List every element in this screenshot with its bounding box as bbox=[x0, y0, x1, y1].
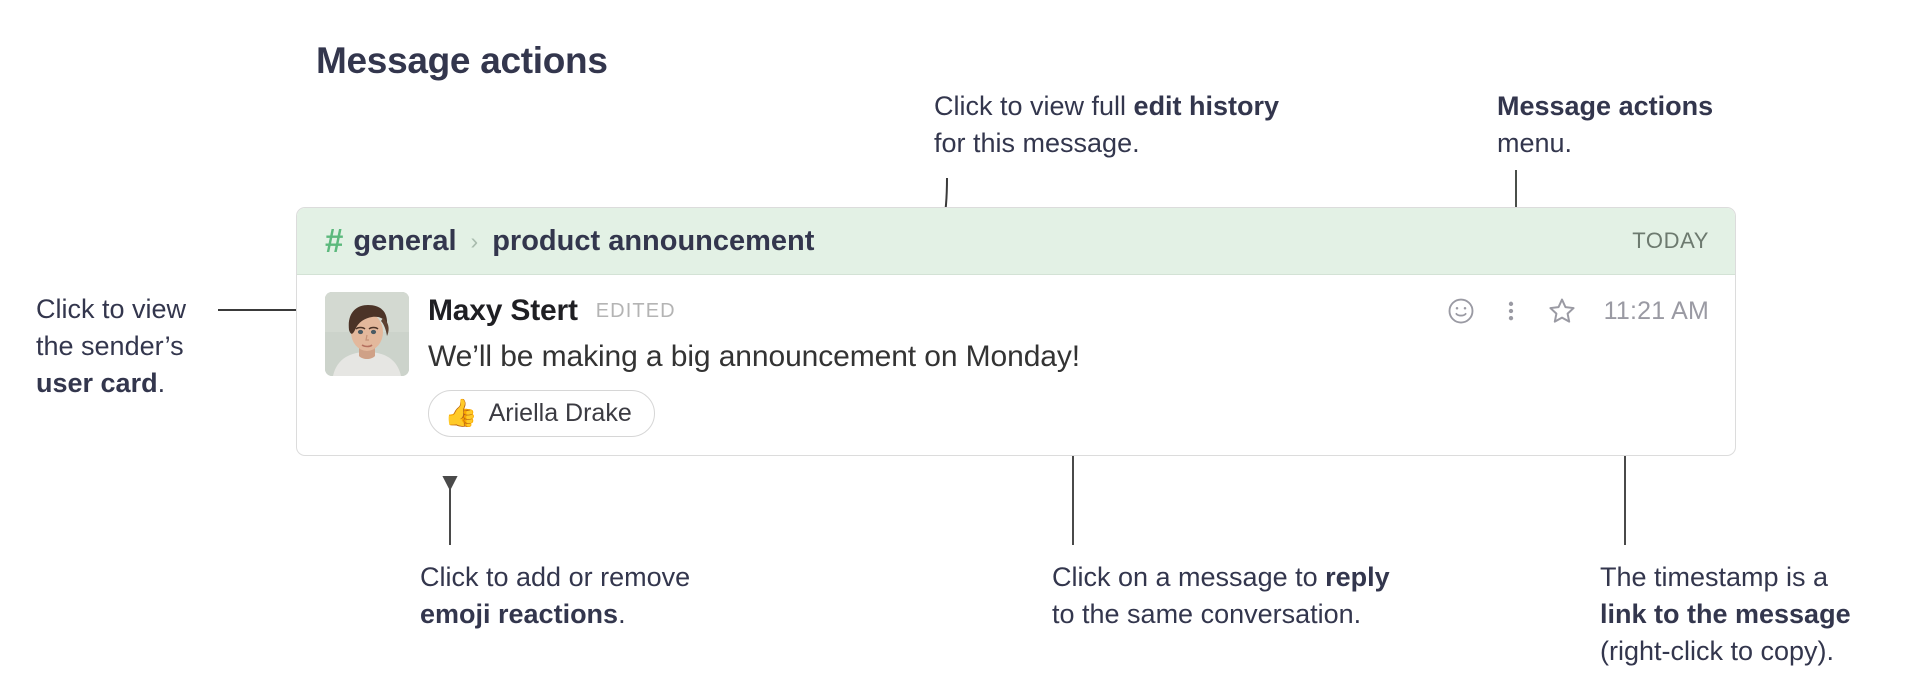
annotation-text: Click to view full bbox=[934, 91, 1134, 121]
annotation-text: to the same conversation. bbox=[1052, 599, 1361, 629]
annotation-line: Click to view full edit history bbox=[934, 88, 1279, 125]
message-row: Maxy Stert EDITED bbox=[297, 275, 1735, 437]
chevron-right-icon: › bbox=[471, 228, 479, 255]
annotation-line: emoji reactions. bbox=[420, 596, 690, 633]
recipient-date[interactable]: TODAY bbox=[1632, 228, 1709, 254]
annotation-text: the sender’s bbox=[36, 331, 184, 361]
annotation-text: . bbox=[158, 368, 166, 398]
annotation-line: Click to view bbox=[36, 291, 186, 328]
annotation-line: link to the message bbox=[1600, 596, 1851, 633]
hash-icon: # bbox=[325, 224, 343, 257]
stream-name[interactable]: general bbox=[353, 225, 456, 258]
reaction-label: Ariella Drake bbox=[489, 399, 632, 428]
annotation-line: The timestamp is a bbox=[1600, 559, 1851, 596]
illustration-stage: Message actions Click to view full edit … bbox=[0, 0, 1924, 696]
annotation-text: Click to add or remove bbox=[420, 562, 690, 592]
topic-name[interactable]: product announcement bbox=[492, 225, 814, 258]
avatar[interactable] bbox=[325, 292, 409, 376]
annotation-text: (right-click to copy). bbox=[1600, 636, 1834, 666]
annotation-text: Click to view bbox=[36, 294, 186, 324]
annotation-reply: Click on a message to reply to the same … bbox=[1052, 559, 1390, 633]
annotation-emphasis: emoji reactions bbox=[420, 599, 618, 629]
edited-label[interactable]: EDITED bbox=[596, 300, 676, 323]
message-timestamp[interactable]: 11:21 AM bbox=[1604, 297, 1709, 326]
annotation-emphasis: edit history bbox=[1134, 91, 1280, 121]
annotation-text: for this message. bbox=[934, 128, 1140, 158]
annotation-line: Message actions bbox=[1497, 88, 1713, 125]
annotation-line: Click to add or remove bbox=[420, 559, 690, 596]
annotation-emphasis: reply bbox=[1325, 562, 1390, 592]
annotation-line: for this message. bbox=[934, 125, 1279, 162]
annotation-edit-history: Click to view full edit history for this… bbox=[934, 88, 1279, 162]
annotation-line: (right-click to copy). bbox=[1600, 633, 1851, 670]
annotation-line: to the same conversation. bbox=[1052, 596, 1390, 633]
recipient-bar: # general › product announcement TODAY bbox=[297, 208, 1735, 275]
annotation-line: user card. bbox=[36, 365, 186, 402]
thumbs-up-icon: 👍 bbox=[444, 400, 478, 427]
annotation-text: menu. bbox=[1497, 128, 1572, 158]
message-text[interactable]: We’ll be making a big announcement on Mo… bbox=[428, 337, 1709, 377]
emoji-reaction-icon[interactable] bbox=[1446, 296, 1476, 326]
annotation-line: Click on a message to reply bbox=[1052, 559, 1390, 596]
message-card[interactable]: # general › product announcement TODAY bbox=[296, 207, 1736, 456]
page-title: Message actions bbox=[316, 40, 608, 82]
annotation-emoji-reactions: Click to add or remove emoji reactions. bbox=[420, 559, 690, 633]
annotation-message-actions-menu: Message actions menu. bbox=[1497, 88, 1713, 162]
star-icon[interactable] bbox=[1546, 295, 1578, 327]
reaction-pill[interactable]: 👍 Ariella Drake bbox=[428, 390, 655, 437]
avatar-image bbox=[325, 292, 409, 376]
annotation-line: the sender’s bbox=[36, 328, 186, 365]
annotation-text: . bbox=[618, 599, 626, 629]
annotation-user-card: Click to view the sender’s user card. bbox=[36, 291, 186, 402]
message-header: Maxy Stert EDITED bbox=[428, 292, 1709, 330]
annotation-text: The timestamp is a bbox=[1600, 562, 1828, 592]
message-actions-menu-icon[interactable] bbox=[1498, 296, 1524, 326]
sender-name[interactable]: Maxy Stert bbox=[428, 294, 578, 328]
message-controls: 11:21 AM bbox=[1446, 295, 1709, 327]
annotation-line: menu. bbox=[1497, 125, 1713, 162]
annotation-emphasis: Message actions bbox=[1497, 91, 1713, 121]
annotation-timestamp-link: The timestamp is a link to the message (… bbox=[1600, 559, 1851, 670]
annotation-emphasis: user card bbox=[36, 368, 158, 398]
annotation-text: Click on a message to bbox=[1052, 562, 1325, 592]
reactions-row: 👍 Ariella Drake bbox=[428, 390, 1709, 437]
annotation-emphasis: link to the message bbox=[1600, 599, 1851, 629]
message-main: Maxy Stert EDITED bbox=[409, 292, 1709, 437]
